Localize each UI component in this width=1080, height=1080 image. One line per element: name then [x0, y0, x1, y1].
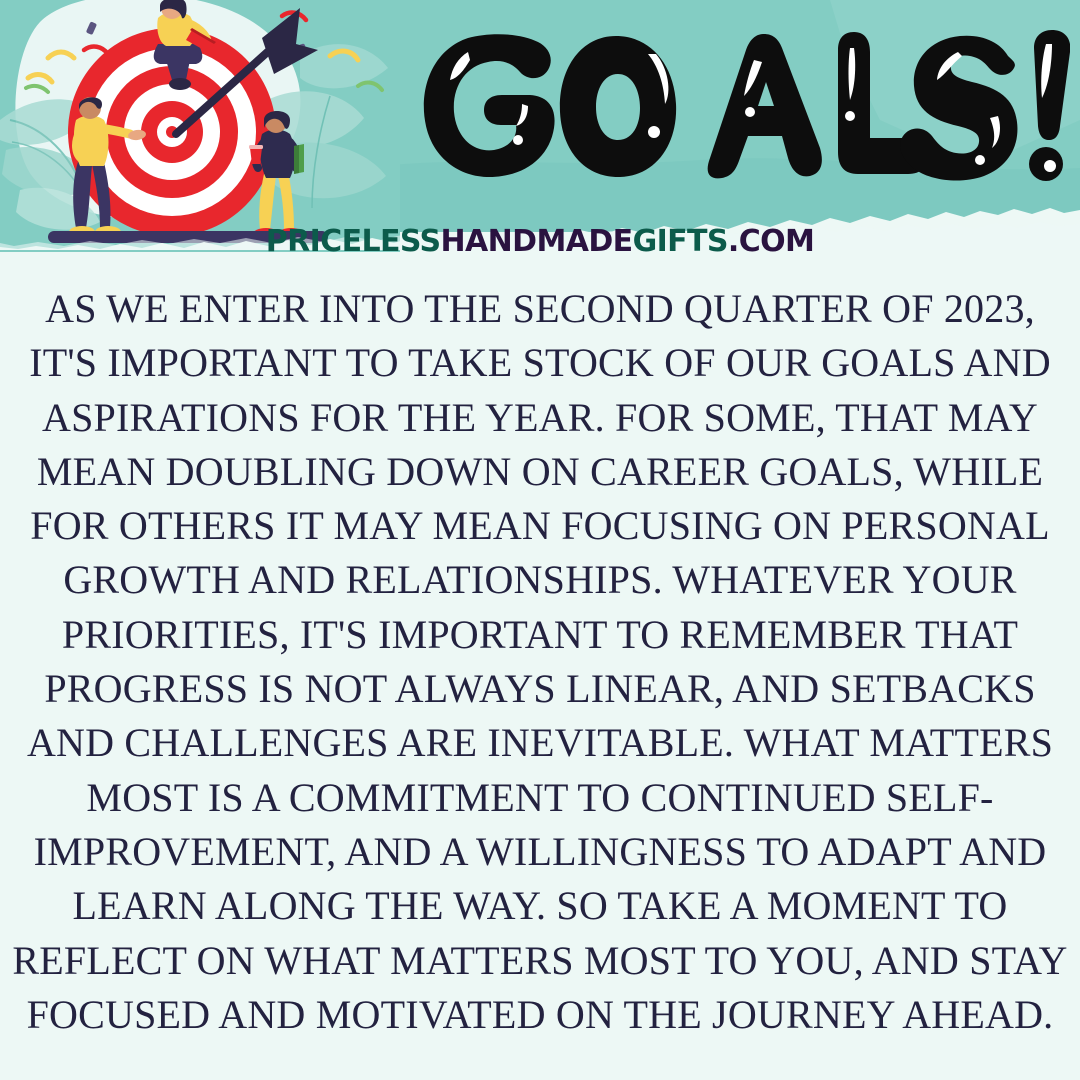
url-segment-priceless: PRICELESS: [266, 224, 441, 259]
body-line: PRIORITIES, IT'S IMPORTANT TO REMEMBER T…: [0, 608, 1080, 662]
body-line: AS WE ENTER INTO THE SECOND QUARTER OF 2…: [0, 282, 1080, 336]
body-line: LEARN ALONG THE WAY. SO TAKE A MOMENT TO: [0, 879, 1080, 933]
title-letter-A: [708, 34, 822, 178]
body-line: FOCUSED AND MOTIVATED ON THE JOURNEY AHE…: [0, 988, 1080, 1042]
body-line: AND CHALLENGES ARE INEVITABLE. WHAT MATT…: [0, 716, 1080, 770]
body-line: REFLECT ON WHAT MATTERS MOST TO YOU, AND…: [0, 934, 1080, 988]
body-line: MOST IS A COMMITMENT TO CONTINUED SELF-: [0, 771, 1080, 825]
url-segment-handmade: HANDMADE: [441, 224, 633, 259]
title-svg: [410, 8, 1070, 198]
body-line: IMPROVEMENT, AND A WILLINGNESS TO ADAPT …: [0, 825, 1080, 879]
title-letter-S: [900, 36, 1017, 181]
goals-illustration: [0, 0, 400, 252]
illustration-svg: [0, 0, 400, 252]
title-letter-G: [424, 34, 555, 177]
body-line: ASPIRATIONS FOR THE YEAR. FOR SOME, THAT…: [0, 391, 1080, 445]
body-line: MEAN DOUBLING DOWN ON CAREER GOALS, WHIL…: [0, 445, 1080, 499]
url-segment-gifts: GIFTS: [633, 224, 728, 259]
title-letter-O: [560, 36, 676, 177]
website-url[interactable]: PRICELESSHANDMADEGIFTS.COM: [0, 224, 1080, 259]
poster-title: [410, 8, 1070, 198]
body-line: GROWTH AND RELATIONSHIPS. WHATEVER YOUR: [0, 553, 1080, 607]
url-segment-com: .COM: [728, 224, 814, 259]
body-line: IT'S IMPORTANT TO TAKE STOCK OF OUR GOAL…: [0, 336, 1080, 390]
body-line: FOR OTHERS IT MAY MEAN FOCUSING ON PERSO…: [0, 499, 1080, 553]
poster-canvas: PRICELESSHANDMADEGIFTS.COM AS WE ENTER I…: [0, 0, 1080, 1080]
body-line: PROGRESS IS NOT ALWAYS LINEAR, AND SETBA…: [0, 662, 1080, 716]
body-copy: AS WE ENTER INTO THE SECOND QUARTER OF 2…: [0, 282, 1080, 1042]
title-exclamation: [1029, 30, 1070, 181]
